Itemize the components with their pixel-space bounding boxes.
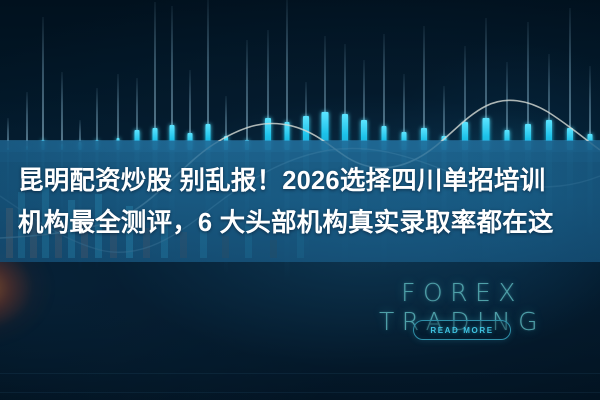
headline: 昆明配资炒股 别乱报！2026选择四川单招培训 机构最全测评，6 大头部机构真实…: [0, 141, 600, 262]
read-more-button[interactable]: READ MORE: [413, 320, 511, 340]
headline-line-2: 机构最全测评，6 大头部机构真实录取率都在这: [18, 202, 582, 244]
forex-banner: 昆明配资炒股 别乱报！2026选择四川单招培训 机构最全测评，6 大头部机构真实…: [0, 0, 600, 400]
headline-line-1: 昆明配资炒股 别乱报！2026选择四川单招培训: [18, 160, 582, 202]
divider-line-1: [0, 373, 600, 374]
divider-line-2: [0, 392, 600, 393]
